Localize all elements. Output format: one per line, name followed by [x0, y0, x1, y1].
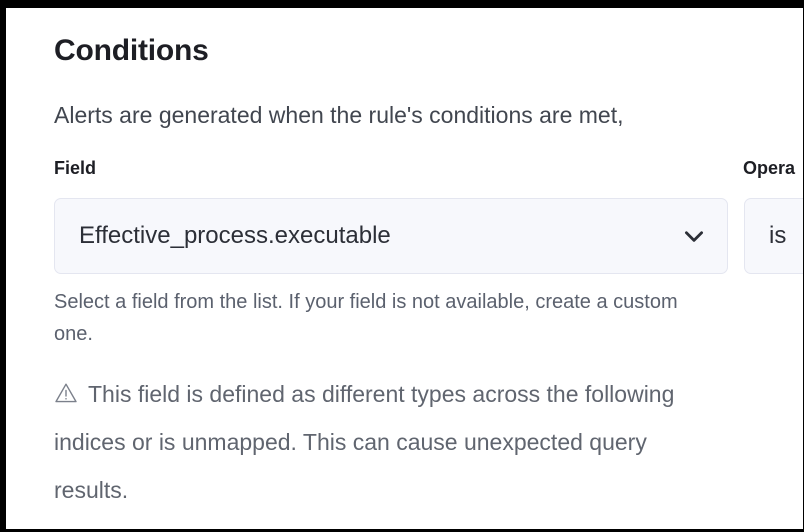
field-select[interactable]: Effective_process.executable — [54, 198, 728, 274]
page-title: Conditions — [54, 34, 209, 68]
chevron-down-icon[interactable] — [681, 223, 707, 249]
conditions-panel: Conditions Alerts are generated when the… — [6, 8, 803, 529]
page-description: Alerts are generated when the rule's con… — [54, 102, 624, 129]
field-select-value: Effective_process.executable — [79, 222, 391, 250]
operator-select-value: is — [769, 222, 786, 250]
screenshot-frame: Conditions Alerts are generated when the… — [0, 0, 804, 532]
field-type-warning-text: This field is defined as different types… — [54, 381, 674, 503]
warning-triangle-icon — [54, 373, 78, 397]
field-type-warning: This field is defined as different types… — [54, 370, 714, 514]
conditions-panel-content: Conditions Alerts are generated when the… — [6, 8, 803, 529]
operator-label: Opera — [743, 158, 795, 179]
field-help-text: Select a field from the list. If your fi… — [54, 286, 694, 350]
operator-select[interactable]: is — [744, 198, 803, 274]
field-label: Field — [54, 158, 96, 179]
